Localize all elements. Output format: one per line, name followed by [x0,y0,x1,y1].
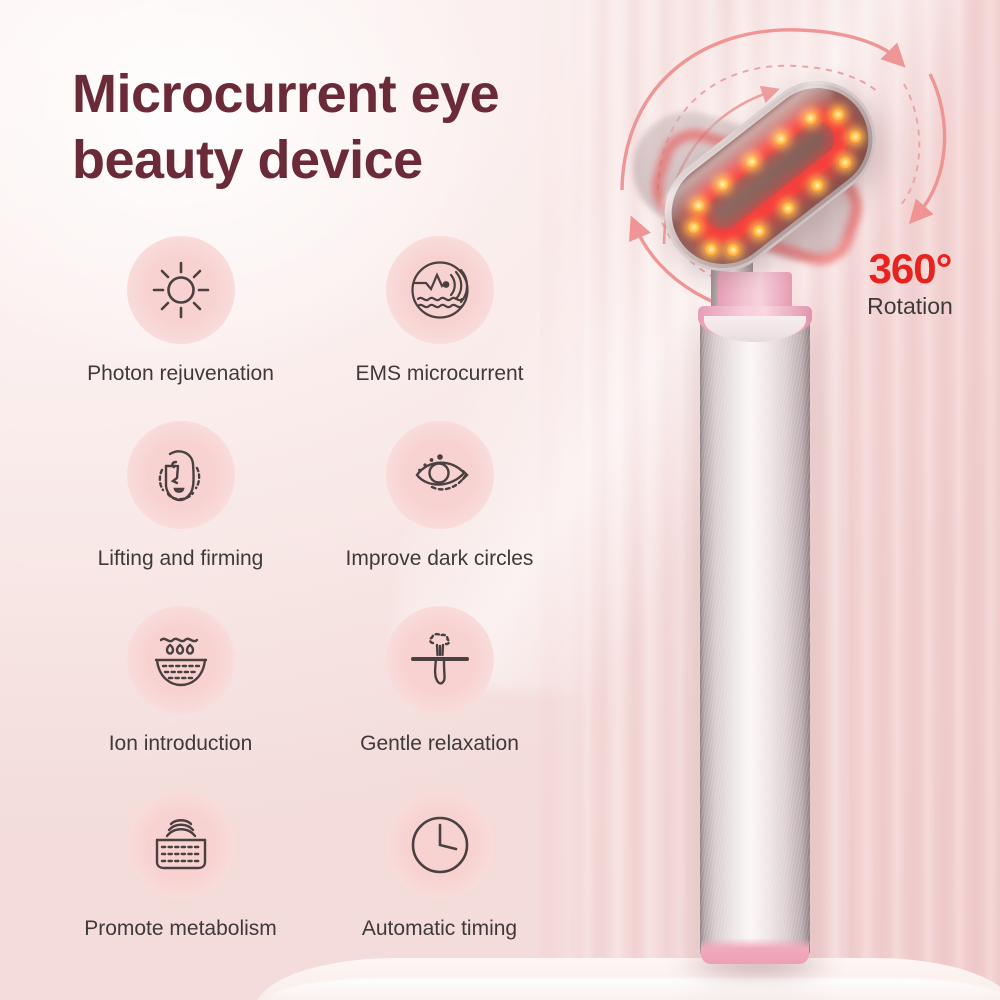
led-dot [846,127,864,145]
product-device: 360° Rotation [600,0,1000,1000]
device-handle-texture [700,316,810,960]
page-title-line-1: Microcurrent eye [72,62,672,128]
feature-label: Automatic timing [362,917,517,941]
feature-item-ion-introduction: Ion introduction [60,606,301,791]
rotation-caption: Rotation [840,294,980,319]
ems-wave-icon [409,259,471,321]
feature-icon-badge [386,236,494,344]
feature-label: Lifting and firming [98,547,264,571]
feature-icon-badge [127,421,235,529]
sun-icon [151,260,211,320]
feature-label: Photon rejuvenation [87,362,274,386]
feature-label: Gentle relaxation [360,732,519,756]
pore-steam-icon [407,631,473,689]
feature-item-improve-dark-circles: Improve dark circles [319,421,560,606]
face-profile-icon [150,444,212,506]
page-title: Microcurrent eye beauty device [72,62,672,194]
clock-icon [409,814,471,876]
led-dot [724,241,742,259]
feature-grid: Photon rejuvenation [60,236,560,976]
skin-waves-icon [149,816,213,874]
feature-label: Improve dark circles [346,547,534,571]
feature-item-gentle-relaxation: Gentle relaxation [319,606,560,791]
feature-icon-badge [127,606,235,714]
page-title-line-2: beauty device [72,128,672,194]
water-droplets-icon [149,632,213,688]
product-poster: Microcurrent eye beauty device [0,0,1000,1000]
feature-icon-badge [127,791,235,899]
feature-label: EMS microcurrent [355,362,523,386]
feature-item-photon-rejuvenation: Photon rejuvenation [60,236,301,421]
feature-item-ems-microcurrent: EMS microcurrent [319,236,560,421]
feature-icon-badge [127,236,235,344]
device-base [701,938,809,964]
feature-item-lifting-and-firming: Lifting and firming [60,421,301,606]
feature-icon-badge [386,421,494,529]
feature-item-promote-metabolism: Promote metabolism [60,791,301,976]
feature-label: Promote metabolism [84,917,277,941]
feature-icon-badge [386,791,494,899]
eye-icon [408,449,472,501]
rotation-badge: 360° Rotation [840,248,980,319]
device-handle [700,316,810,960]
rotation-value: 360° [840,248,980,290]
feature-label: Ion introduction [109,732,253,756]
feature-icon-badge [386,606,494,714]
feature-item-automatic-timing: Automatic timing [319,791,560,976]
